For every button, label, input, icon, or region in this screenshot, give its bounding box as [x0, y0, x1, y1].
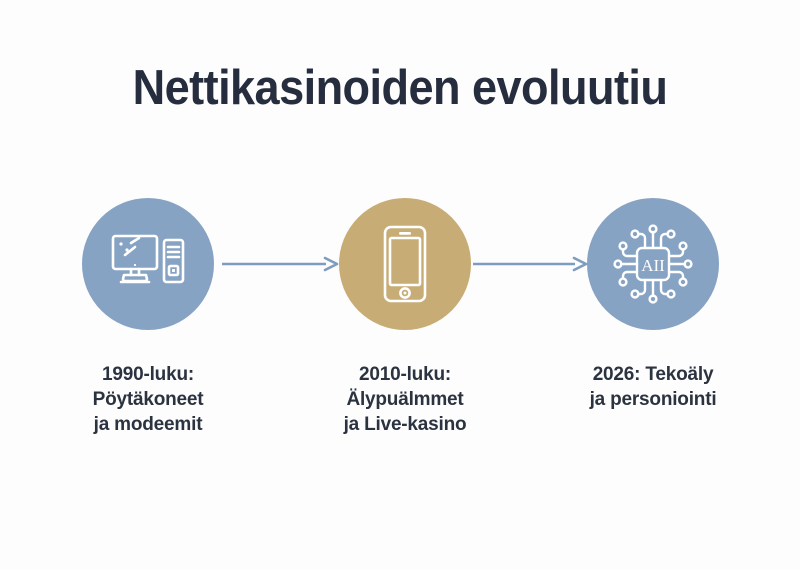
page-title: Nettikasinoiden evoluutiu	[32, 60, 768, 116]
stage-2-caption-line-1: 2010-luku:	[285, 362, 525, 387]
stage-3[interactable]: AII	[587, 198, 719, 330]
ai-chip-label: AII	[641, 256, 665, 275]
arrow-1	[222, 256, 340, 272]
stage-1[interactable]	[82, 198, 214, 330]
arrow-2	[473, 256, 589, 272]
stage-1-caption-line-1: 1990-luku:	[28, 362, 268, 387]
stage-2[interactable]	[339, 198, 471, 330]
stage-1-caption-line-3: ja modeemit	[28, 412, 268, 437]
stage-3-caption-line-1: 2026: Tekoäly	[533, 362, 773, 387]
stage-1-caption: 1990-luku: Pöytäkoneet ja modeemit	[28, 362, 268, 437]
stage-1-caption-line-2: Pöytäkoneet	[28, 387, 268, 412]
captions-row: 1990-luku: Pöytäkoneet ja modeemit 2010-…	[0, 362, 800, 472]
timeline-row: AII	[0, 198, 800, 338]
stage-3-circle: AII	[587, 198, 719, 330]
smartphone-icon	[383, 225, 427, 303]
stage-2-caption-line-2: Älypuälmmet	[285, 387, 525, 412]
stage-2-caption: 2010-luku: Älypuälmmet ja Live-kasino	[285, 362, 525, 437]
stage-1-circle	[82, 198, 214, 330]
infographic-canvas: Nettikasinoiden evoluutiu	[0, 0, 800, 570]
stage-2-circle	[339, 198, 471, 330]
stage-2-caption-line-3: ja Live-kasino	[285, 412, 525, 437]
ai-chip-icon: AII	[611, 222, 695, 306]
stage-3-caption: 2026: Tekoäly ja personiointi	[533, 362, 773, 412]
stage-3-caption-line-2: ja personiointi	[533, 387, 773, 412]
desktop-computer-icon	[111, 233, 185, 295]
